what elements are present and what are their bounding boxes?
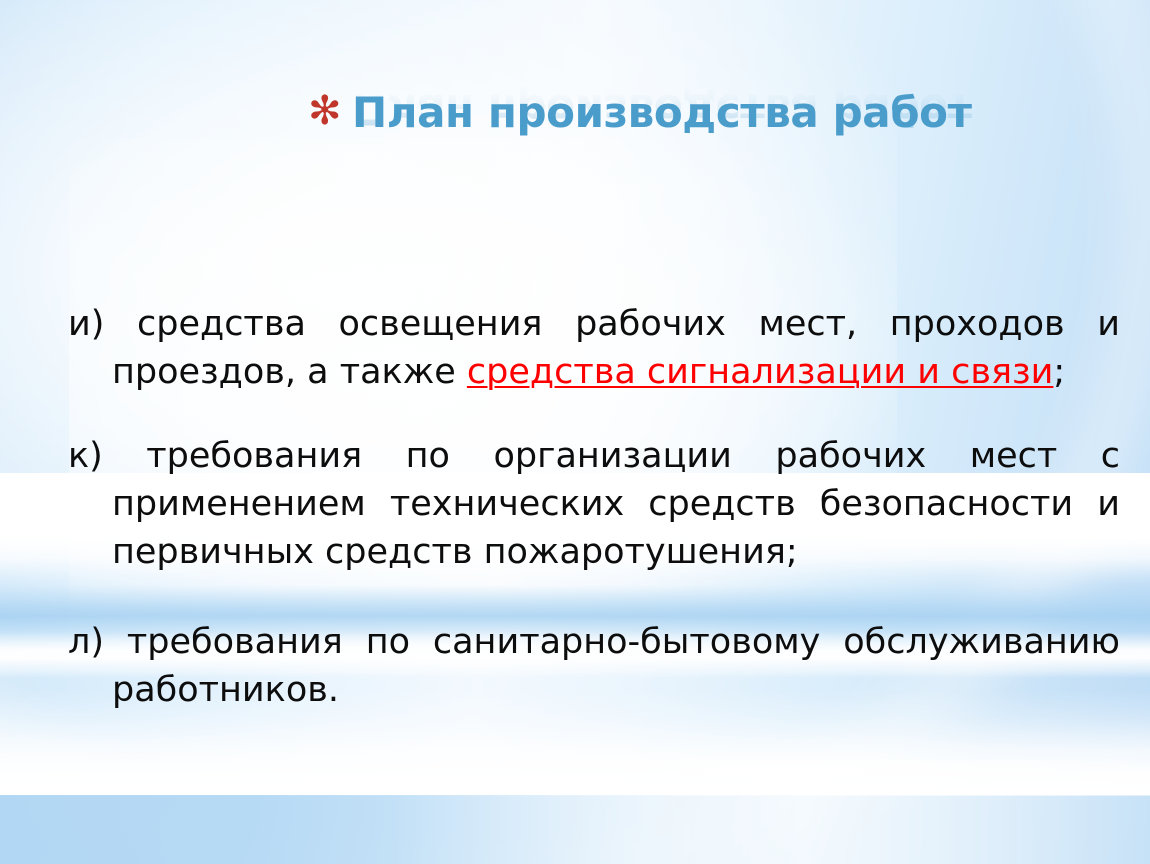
body-paragraph-i: и) средства освещения рабочих мест, прох…	[68, 300, 1120, 396]
slide-body-content: и) средства освещения рабочих мест, прох…	[68, 265, 1120, 749]
page-title: План производства работ	[352, 88, 972, 137]
presentation-slide: ✻ План производства работ План производс…	[0, 0, 1150, 864]
paragraph-i-highlight: средства сигнализации и связи	[467, 352, 1054, 392]
asterisk-icon: ✻	[308, 94, 338, 128]
background-band-bottom-fade	[0, 760, 1150, 864]
paragraph-k-text: к) требования по организации рабочих мес…	[68, 436, 1120, 572]
slide-title-block: ✻ План производства работ План производс…	[296, 88, 1076, 198]
paragraph-l-text: л) требования по санитарно-бытовому обсл…	[68, 622, 1120, 710]
body-paragraph-k: к) требования по организации рабочих мес…	[68, 432, 1120, 576]
body-paragraph-l: л) требования по санитарно-бытовому обсл…	[68, 618, 1120, 714]
paragraph-i-text-tail: ;	[1053, 352, 1065, 392]
